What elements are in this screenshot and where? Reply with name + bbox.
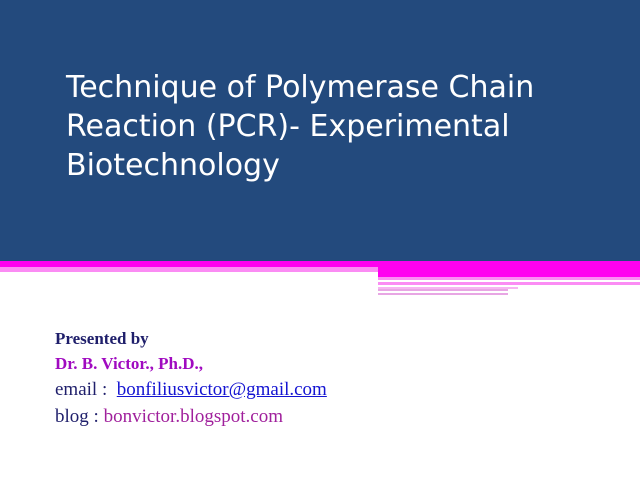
blog-label: blog : [55, 406, 99, 427]
stripe-magenta-right [378, 261, 640, 277]
stripe-pink-left [0, 267, 378, 272]
slide-title: Technique of Polymerase Chain Reaction (… [66, 68, 596, 185]
stripe-pinstripe-8 [378, 293, 508, 295]
presentation-slide: Technique of Polymerase Chain Reaction (… [0, 0, 640, 480]
title-banner: Technique of Polymerase Chain Reaction (… [0, 0, 640, 261]
blog-line: blog : bonvictor.blogspot.com [55, 403, 595, 430]
presented-by-label: Presented by [55, 329, 149, 348]
author-line: Dr. B. Victor., Ph.D., [55, 351, 595, 376]
email-label: email : [55, 379, 107, 400]
credits-block: Presented by Dr. B. Victor., Ph.D., emai… [55, 326, 595, 430]
stripe-pinstripe-9 [518, 287, 640, 289]
presented-by-line: Presented by [55, 326, 595, 351]
decorative-stripe-band [0, 261, 640, 297]
author-name: Dr. B. Victor., Ph.D., [55, 354, 203, 373]
blog-link[interactable]: bonvictor.blogspot.com [104, 406, 283, 427]
email-spacer [107, 379, 112, 400]
email-line: email : bonfiliusvictor@gmail.com [55, 376, 595, 403]
email-link[interactable]: bonfiliusvictor@gmail.com [117, 379, 327, 400]
